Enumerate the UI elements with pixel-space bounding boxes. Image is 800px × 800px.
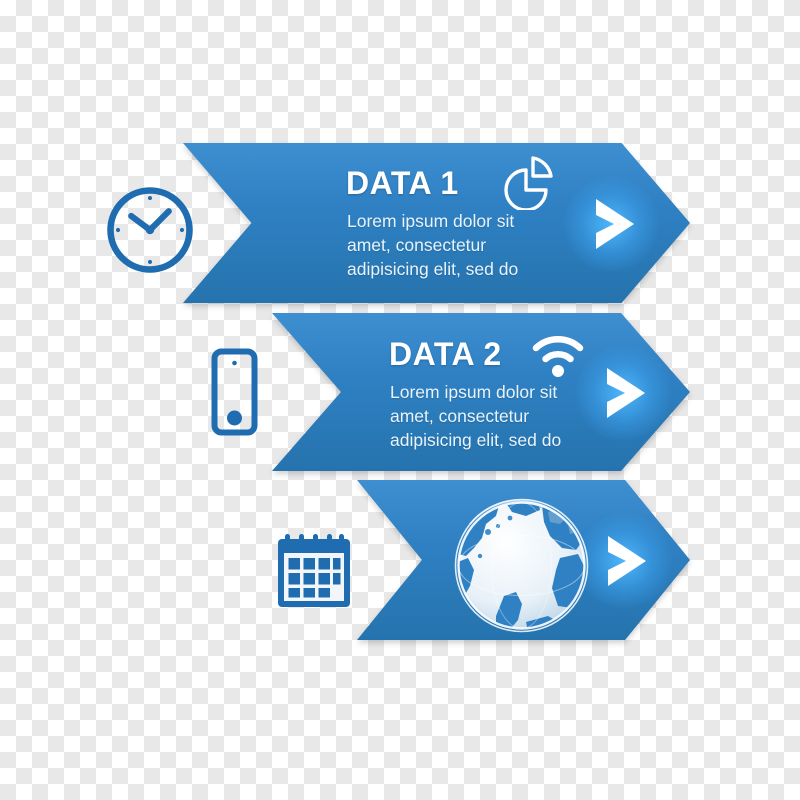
chevron-right-icon-svg: [600, 532, 656, 590]
globe-icon: [452, 496, 591, 635]
banner-description-2: Lorem ipsum dolor sit amet, consectetur …: [390, 380, 620, 452]
banner-data-2[interactable]: DATA 2 Lorem ipsum dolor sit amet, conse…: [272, 313, 690, 471]
chevron-right-icon[interactable]: [588, 195, 644, 253]
pie-chart-icon-svg: [499, 154, 555, 210]
banner-title-1: DATA 1: [346, 165, 459, 202]
banner-data-1[interactable]: DATA 1 Lorem ipsum dolor sit amet, conse…: [183, 143, 690, 303]
banner-title-2: DATA 2: [389, 336, 502, 373]
calendar-icon: [274, 531, 354, 611]
banner-description-1: Lorem ipsum dolor sit amet, consectetur …: [347, 209, 577, 281]
globe-icon-svg: [452, 496, 591, 635]
calendar-icon-svg: [274, 531, 354, 611]
wifi-icon: [532, 333, 584, 379]
wifi-icon-svg: [532, 333, 584, 379]
smartphone-icon-svg: [211, 348, 258, 436]
chevron-right-icon-svg: [588, 195, 644, 253]
banner-content-1: DATA 1 Lorem ipsum dolor sit amet, conse…: [183, 143, 690, 303]
chevron-right-icon[interactable]: [600, 532, 656, 590]
banner-content-2: DATA 2 Lorem ipsum dolor sit amet, conse…: [272, 313, 690, 471]
infographic-canvas: DATA 1 Lorem ipsum dolor sit amet, conse…: [0, 0, 800, 800]
smartphone-icon: [211, 348, 258, 436]
pie-chart-icon: [499, 154, 555, 210]
